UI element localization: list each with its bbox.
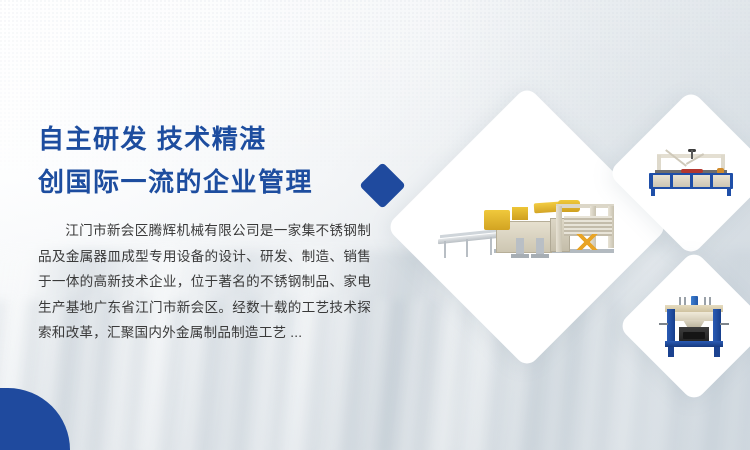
main-machine-image: [427, 127, 627, 327]
company-description-paragraph: 江门市新会区腾辉机械有限公司是一家集不锈钢制品及金属器皿成型专用设备的设计、研发…: [38, 218, 371, 346]
top-machine-image: [632, 114, 750, 232]
text-block: 自主研发 技术精湛 创国际一流的企业管理 江门市新会区腾辉机械有限公司是一家集不…: [38, 118, 378, 346]
headline-line-1: 自主研发 技术精湛: [38, 118, 378, 161]
headline-line-2: 创国际一流的企业管理: [38, 161, 378, 204]
company-intro-banner: 自主研发 技术精湛 创国际一流的企业管理 江门市新会区腾辉机械有限公司是一家集不…: [0, 0, 750, 450]
bottom-machine-image: [640, 272, 748, 380]
